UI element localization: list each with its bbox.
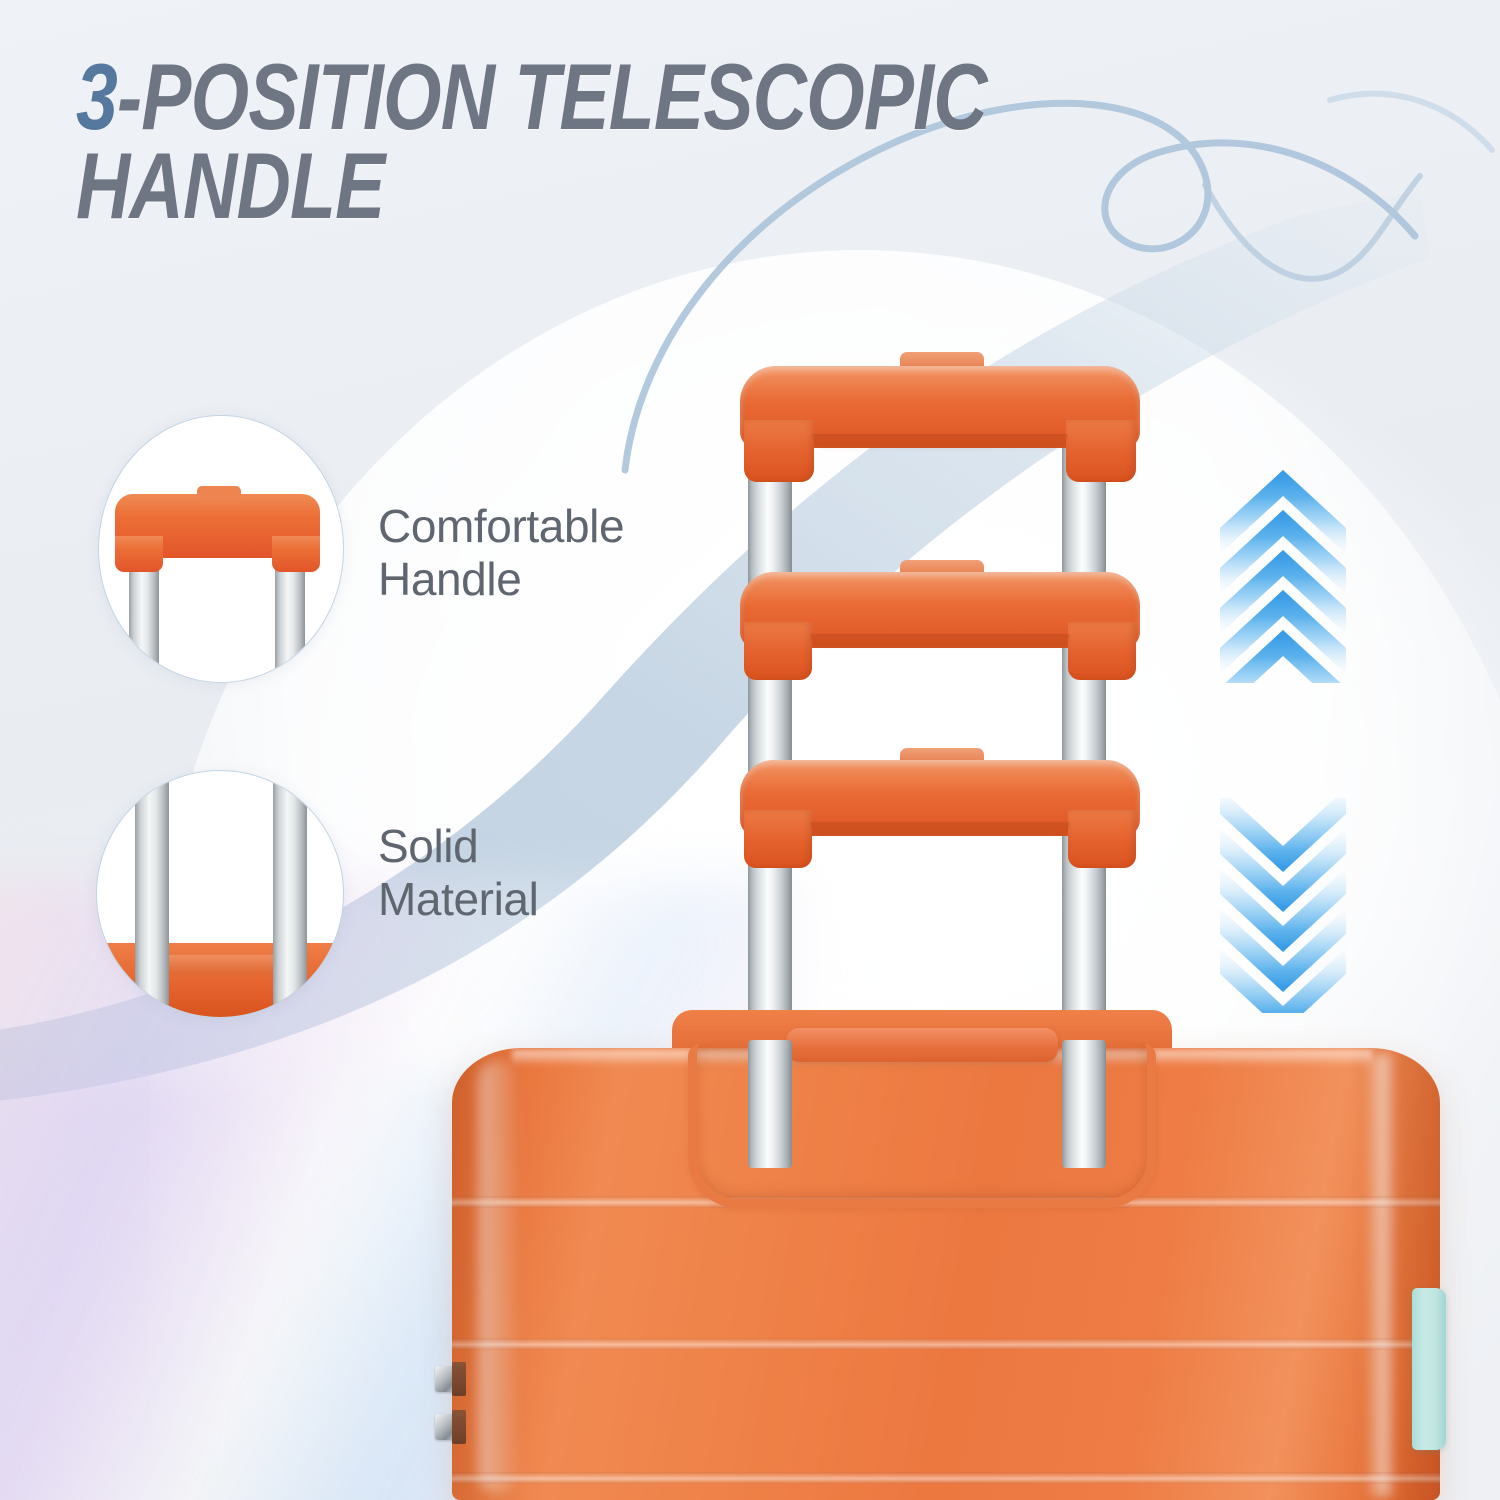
feature-graphic-canvas: 3-POSITION TELESCOPIC HANDLE Comfortable… bbox=[0, 0, 1500, 1500]
page-title-line-1: 3-POSITION TELESCOPIC bbox=[76, 52, 1044, 141]
pole-closeup-icon bbox=[96, 770, 344, 1018]
page-title: 3-POSITION TELESCOPIC HANDLE bbox=[76, 52, 1286, 231]
page-title-line-2: HANDLE bbox=[76, 141, 1044, 230]
pole-closeup-right bbox=[273, 771, 307, 1018]
callout-label-solid-material: Solid Material bbox=[378, 820, 718, 927]
pole-closeup-left bbox=[135, 771, 169, 1018]
